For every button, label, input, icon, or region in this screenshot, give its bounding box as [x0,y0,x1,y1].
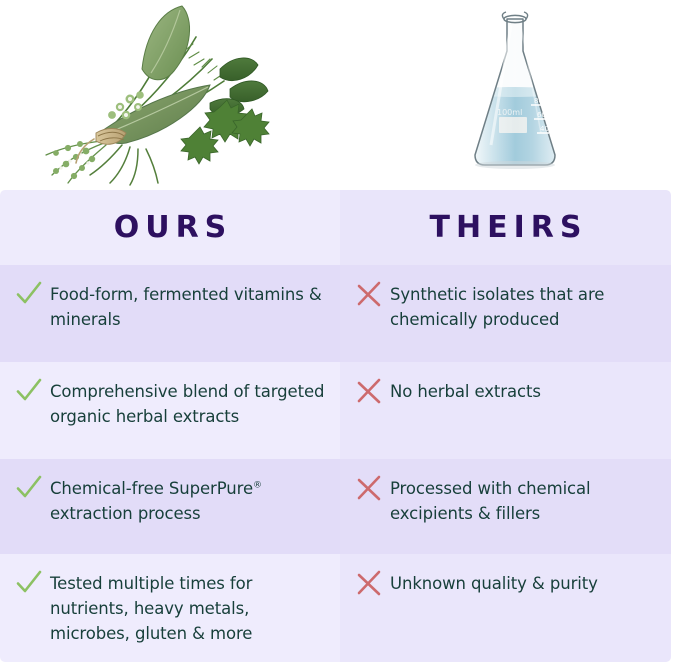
cell-ours: Chemical-free SuperPure® extraction proc… [0,459,340,554]
hero-imagery: 80 60 40 100ml [0,0,679,190]
cell-theirs: Processed with chemical excipients & fil… [340,459,671,554]
hero-cell-ours [0,0,340,190]
cell-ours: Food-form, fermented vitamins & minerals [0,265,340,362]
cell-theirs-text: Synthetic isolates that are chemically p… [390,281,670,332]
table-row: Chemical-free SuperPure® extraction proc… [0,459,671,554]
cell-ours-text: Comprehensive blend of targeted organic … [50,378,330,429]
table-header-row: OURS THEIRS [0,190,671,265]
registered-trademark-mark: ® [253,481,262,491]
cross-icon [354,568,384,598]
cross-icon [354,279,384,309]
cross-icon [354,376,384,406]
cell-theirs-text: Processed with chemical excipients & fil… [390,475,670,526]
cell-ours: Comprehensive blend of targeted organic … [0,362,340,459]
cell-ours-text-suffix: extraction process [50,504,201,523]
check-icon [14,568,44,598]
check-icon [14,279,44,309]
hero-cell-theirs: 80 60 40 100ml [340,0,679,190]
check-icon [14,376,44,406]
cell-theirs-text: No herbal extracts [390,378,541,404]
cross-icon [354,473,384,503]
comparison-table: OURS THEIRS Food-form, fermented vitamin… [0,190,679,662]
cell-ours: Tested multiple times for nutrients, hea… [0,554,340,662]
column-header-ours-label: OURS [108,213,233,243]
column-header-theirs-label: THEIRS [424,213,588,243]
cell-theirs: Unknown quality & purity [340,554,671,662]
column-header-ours: OURS [0,190,340,265]
erlenmeyer-flask: 80 60 40 100ml [455,5,575,185]
cell-theirs: No herbal extracts [340,362,671,459]
table-row: Tested multiple times for nutrients, hea… [0,554,671,662]
table-row: Food-form, fermented vitamins & minerals… [0,265,671,362]
fresh-herb-bundle [34,3,284,188]
cell-ours-text: Food-form, fermented vitamins & minerals [50,281,330,332]
table-row: Comprehensive blend of targeted organic … [0,362,671,459]
cell-ours-text: Tested multiple times for nutrients, hea… [50,570,330,646]
cell-theirs-text: Unknown quality & purity [390,570,598,596]
cell-ours-text-prefix: Chemical-free SuperPure [50,479,253,498]
svg-text:100ml: 100ml [497,108,522,117]
column-header-theirs: THEIRS [340,190,671,265]
check-icon [14,473,44,503]
cell-theirs: Synthetic isolates that are chemically p… [340,265,671,362]
cell-ours-text: Chemical-free SuperPure® extraction proc… [50,475,330,526]
